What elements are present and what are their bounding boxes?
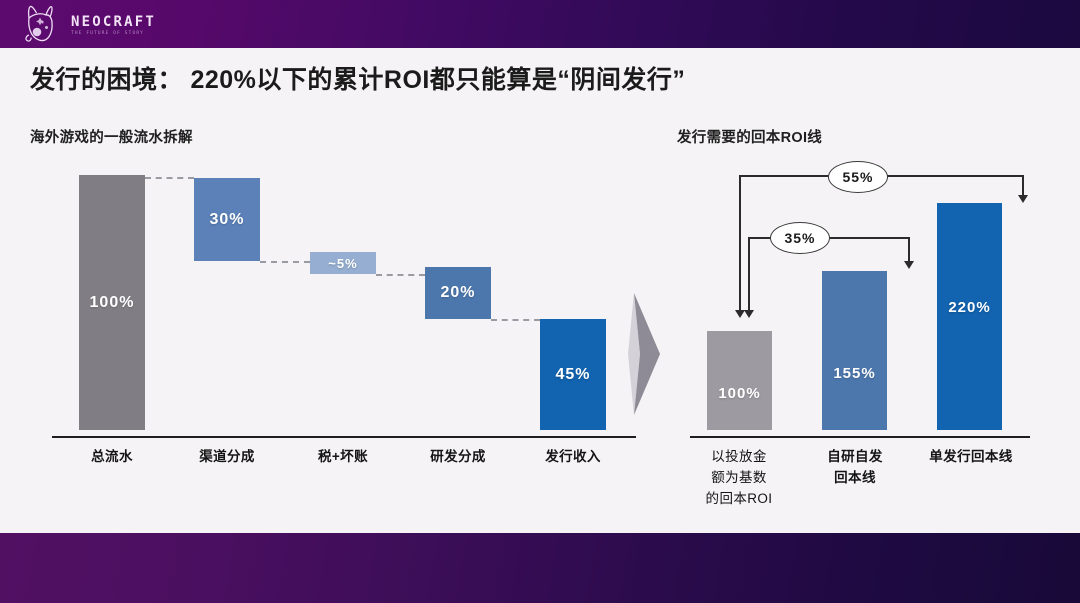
roi-35-arrowhead-left — [744, 310, 754, 318]
bottom-brand-bar — [0, 533, 1080, 603]
roi-35-left-stem — [748, 237, 750, 313]
bar-channel-share[interactable]: 30% — [194, 178, 260, 261]
roi-35-right-stem — [908, 237, 910, 263]
waterfall-connector-4 — [491, 319, 540, 321]
right-chevron-arrow-icon — [620, 293, 666, 420]
bar-value-label: ~5% — [328, 256, 357, 271]
bar-total-revenue[interactable]: 100% — [79, 175, 145, 430]
bar-value-label: 220% — [948, 299, 990, 316]
roi-55-left-drop — [739, 208, 741, 313]
left-chart-subtitle: 海外游戏的一般流水拆解 — [30, 126, 193, 147]
brand-name: NEOCRAFT — [71, 15, 156, 29]
brand-wordmark: NEOCRAFT THE FUTURE OF STORY — [71, 11, 156, 36]
bar-value-label: 20% — [440, 284, 475, 302]
waterfall-cat-3: 研发分成 — [415, 446, 501, 467]
roi-cat-1: 自研自发 回本线 — [810, 446, 900, 488]
roi-55-arrowhead-right — [1018, 195, 1028, 203]
bar-rnd-share[interactable]: 20% — [425, 267, 491, 319]
page-title: 发行的困境： 220%以下的累计ROI都只能算是“阴间发行” — [30, 60, 685, 96]
bar-publishing-revenue[interactable]: 45% — [540, 319, 606, 430]
roi-35-arrowhead-right — [904, 261, 914, 269]
waterfall-cat-0: 总流水 — [79, 446, 145, 467]
waterfall-connector-2 — [260, 261, 310, 263]
bar-value-label: 45% — [555, 366, 590, 384]
callout-55[interactable]: 55% — [828, 161, 888, 193]
right-chart-subtitle: 发行需要的回本ROI线 — [677, 126, 822, 147]
roi-x-axis — [690, 436, 1030, 438]
roi-cat-2: 单发行回本线 — [915, 446, 1027, 467]
bar-tax-baddebt[interactable]: ~5% — [310, 252, 376, 274]
slide-body: 发行的困境： 220%以下的累计ROI都只能算是“阴间发行” 海外游戏的一般流水… — [0, 48, 1080, 533]
brand-tagline: THE FUTURE OF STORY — [71, 32, 156, 36]
brand-header-bar: NEOCRAFT THE FUTURE OF STORY — [0, 0, 1080, 48]
bar-value-label: 100% — [718, 385, 760, 402]
waterfall-cat-1: 渠道分成 — [184, 446, 270, 467]
waterfall-cat-2: 税+坏账 — [300, 446, 386, 467]
roi-55-right-stem — [1022, 175, 1024, 197]
brand-logo: NEOCRAFT THE FUTURE OF STORY — [18, 2, 156, 46]
waterfall-connector-1 — [145, 177, 194, 179]
bar-value-label: 155% — [833, 365, 875, 382]
callout-35[interactable]: 35% — [770, 222, 830, 254]
bar-roi-baseline[interactable]: 100% — [707, 331, 772, 430]
roi-cat-0: 以投放金 额为基数 的回本ROI — [694, 446, 784, 509]
bar-roi-selfpublish[interactable]: 155% — [822, 271, 887, 430]
bar-value-label: 100% — [90, 294, 135, 312]
waterfall-cat-4: 发行收入 — [530, 446, 616, 467]
bar-roi-publishonly[interactable]: 220% — [937, 203, 1002, 430]
bar-value-label: 30% — [209, 211, 244, 229]
cat-head-logo-icon — [18, 2, 62, 46]
waterfall-x-axis — [52, 436, 636, 438]
waterfall-connector-3 — [376, 274, 425, 276]
